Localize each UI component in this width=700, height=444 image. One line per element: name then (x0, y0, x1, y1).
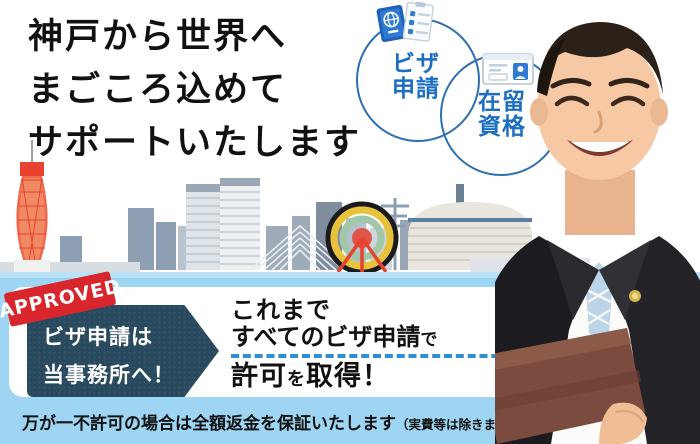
kobe-port-tower (14, 140, 50, 272)
dashed-underline (231, 354, 523, 358)
claim-line-3-tail: 取得！ (306, 361, 390, 392)
guarantee-main: 万が一不許可の場合は全額返金を保証いたします (22, 414, 396, 434)
smiling-businessman (495, 0, 700, 444)
claim-line-2-suffix: で (420, 330, 437, 350)
claim-line-3-main: 許可 (231, 361, 287, 392)
cta-arrow-banner[interactable]: ビザ申請は 当事務所へ！ (27, 305, 219, 397)
claim-line-2-main: すべてのビザ申請 (231, 323, 420, 351)
visa-service-banner: 神戸から世界へ まごころ込めて サポートいたします (0, 0, 700, 444)
cta-line-2: 当事務所へ！ (27, 351, 219, 389)
headline-line-1: 神戸から世界へ (28, 12, 418, 63)
claim-line-3-particle: を (287, 369, 306, 390)
passport-clipboard-icon (375, 2, 437, 46)
